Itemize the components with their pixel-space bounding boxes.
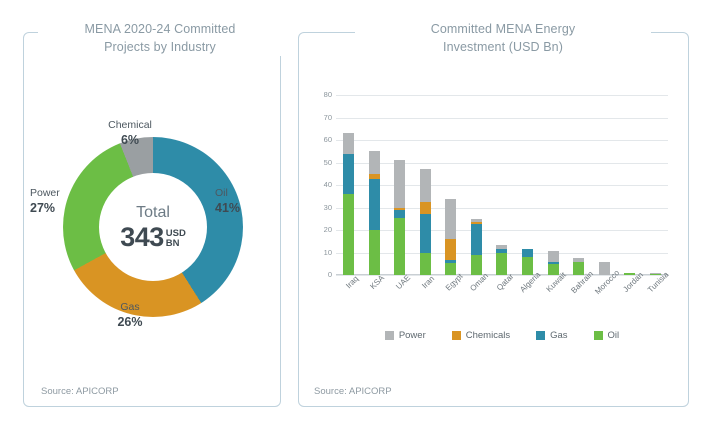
bar-segment-power — [548, 251, 559, 261]
bar-chart-plot-area — [336, 95, 668, 275]
slice-pct-oil: 41% — [215, 201, 263, 215]
y-axis-tick: 40 — [312, 181, 332, 189]
donut-chart-title: MENA 2020-24 Committed Projects by Indus… — [38, 20, 282, 56]
x-axis-label: Iran — [420, 274, 436, 290]
y-axis-tick: 0 — [312, 271, 332, 279]
bar-segment-chemicals — [420, 202, 431, 214]
stacked-bar — [496, 245, 507, 275]
donut-chart: Total 343 USD BN — [63, 137, 243, 317]
bar-group — [617, 95, 643, 275]
chart-legend: PowerChemicalsGasOil — [336, 330, 668, 341]
donut-total-label: Total — [136, 204, 170, 222]
slice-pct-gas: 26% — [100, 315, 160, 329]
bar-segment-oil — [394, 218, 405, 275]
stacked-bar — [394, 160, 405, 275]
bar-group — [362, 95, 388, 275]
stacked-bar — [343, 133, 354, 275]
bar-segment-power — [445, 199, 456, 240]
bar-group — [387, 95, 413, 275]
bar-segment-oil — [496, 253, 507, 276]
bar-series-container — [336, 95, 668, 275]
bar-group — [464, 95, 490, 275]
stacked-bar — [522, 249, 533, 275]
bar-segment-oil — [522, 257, 533, 275]
bar-segment-oil — [573, 262, 584, 276]
bar-segment-power — [394, 160, 405, 207]
legend-label: Chemicals — [466, 330, 510, 341]
legend-swatch-icon — [385, 331, 394, 340]
slice-label-gas: Gas 26% — [100, 300, 160, 329]
legend-item[interactable]: Power — [385, 330, 426, 341]
infographic-root: MENA 2020-24 Committed Projects by Indus… — [0, 0, 712, 427]
stacked-bar — [548, 251, 559, 275]
bar-group — [642, 95, 668, 275]
bar-segment-power — [343, 133, 354, 153]
legend-label: Oil — [608, 330, 620, 341]
bar-segment-gas — [394, 210, 405, 218]
legend-item[interactable]: Oil — [594, 330, 620, 341]
slice-pct-chemical: 6% — [95, 133, 165, 147]
bar-group — [540, 95, 566, 275]
bar-segment-power — [599, 262, 610, 276]
bar-group — [438, 95, 464, 275]
legend-label: Gas — [550, 330, 567, 341]
x-axis-label-cell: Oman — [464, 277, 490, 317]
bar-segment-oil — [420, 253, 431, 276]
bar-segment-gas — [343, 154, 354, 195]
x-axis-label-cell: Bahrain — [566, 277, 592, 317]
donut-total-unit: USD BN — [166, 229, 186, 248]
y-axis-tick: 70 — [312, 114, 332, 122]
bar-segment-gas — [420, 214, 431, 252]
bar-segment-oil — [445, 263, 456, 275]
bar-group — [515, 95, 541, 275]
slice-name-gas: Gas — [100, 300, 160, 314]
x-axis-label-cell: Kuwait — [540, 277, 566, 317]
x-axis-label-cell: KSA — [362, 277, 388, 317]
bar-group — [336, 95, 362, 275]
slice-label-chemical: Chemical 6% — [95, 118, 165, 147]
x-axis-label-cell: Morocco — [591, 277, 617, 317]
stacked-bar — [369, 151, 380, 275]
y-axis-tick: 10 — [312, 249, 332, 257]
bar-group — [413, 95, 439, 275]
source-note-left: Source: APICORP — [41, 386, 119, 397]
bar-group — [489, 95, 515, 275]
x-axis-label-cell: Algeria — [515, 277, 541, 317]
legend-swatch-icon — [594, 331, 603, 340]
y-axis-tick: 50 — [312, 159, 332, 167]
donut-total-value: 343 — [120, 224, 164, 250]
slice-label-power: Power 27% — [30, 186, 82, 215]
slice-name-oil: Oil — [215, 186, 263, 200]
source-note-right: Source: APICORP — [314, 386, 392, 397]
donut-total-row: 343 USD BN — [120, 224, 186, 250]
legend-label: Power — [399, 330, 426, 341]
stacked-bar — [471, 219, 482, 275]
x-axis-label-cell: UAE — [387, 277, 413, 317]
legend-item[interactable]: Chemicals — [452, 330, 510, 341]
bar-group — [591, 95, 617, 275]
legend-swatch-icon — [452, 331, 461, 340]
bar-group — [566, 95, 592, 275]
y-axis-tick: 80 — [312, 91, 332, 99]
x-axis-label-cell: Egypt — [438, 277, 464, 317]
bar-segment-oil — [369, 230, 380, 275]
bar-segment-gas — [471, 224, 482, 254]
slice-name-power: Power — [30, 186, 82, 200]
legend-swatch-icon — [536, 331, 545, 340]
y-axis-tick: 20 — [312, 226, 332, 234]
x-axis-label-cell: Qatar — [489, 277, 515, 317]
donut-center-text: Total 343 USD BN — [99, 173, 207, 281]
bar-segment-oil — [343, 194, 354, 275]
x-axis-label-cell: Iran — [413, 277, 439, 317]
x-axis-label: Iraq — [344, 274, 360, 290]
stacked-bar — [599, 262, 610, 276]
stacked-bar — [420, 169, 431, 275]
slice-label-oil: Oil 41% — [215, 186, 263, 215]
stacked-bar — [445, 199, 456, 276]
x-axis-label-cell: Iraq — [336, 277, 362, 317]
bar-segment-oil — [471, 255, 482, 275]
bar-segment-gas — [369, 179, 380, 230]
x-axis-label-cell: Tunisia — [642, 277, 668, 317]
bar-chart-title: Committed MENA Energy Investment (USD Bn… — [355, 20, 651, 56]
slice-pct-power: 27% — [30, 201, 82, 215]
bar-segment-gas — [522, 249, 533, 257]
x-axis-label-cell: Jordan — [617, 277, 643, 317]
bar-segment-power — [420, 169, 431, 202]
slice-name-chemical: Chemical — [95, 118, 165, 132]
bar-segment-power — [369, 151, 380, 174]
bar-segment-chemicals — [445, 239, 456, 260]
x-axis-labels: IraqKSAUAEIranEgyptOmanQatarAlgeriaKuwai… — [336, 277, 668, 317]
stacked-bar — [573, 258, 584, 275]
legend-item[interactable]: Gas — [536, 330, 567, 341]
y-axis-tick: 60 — [312, 136, 332, 144]
y-axis-tick: 30 — [312, 204, 332, 212]
